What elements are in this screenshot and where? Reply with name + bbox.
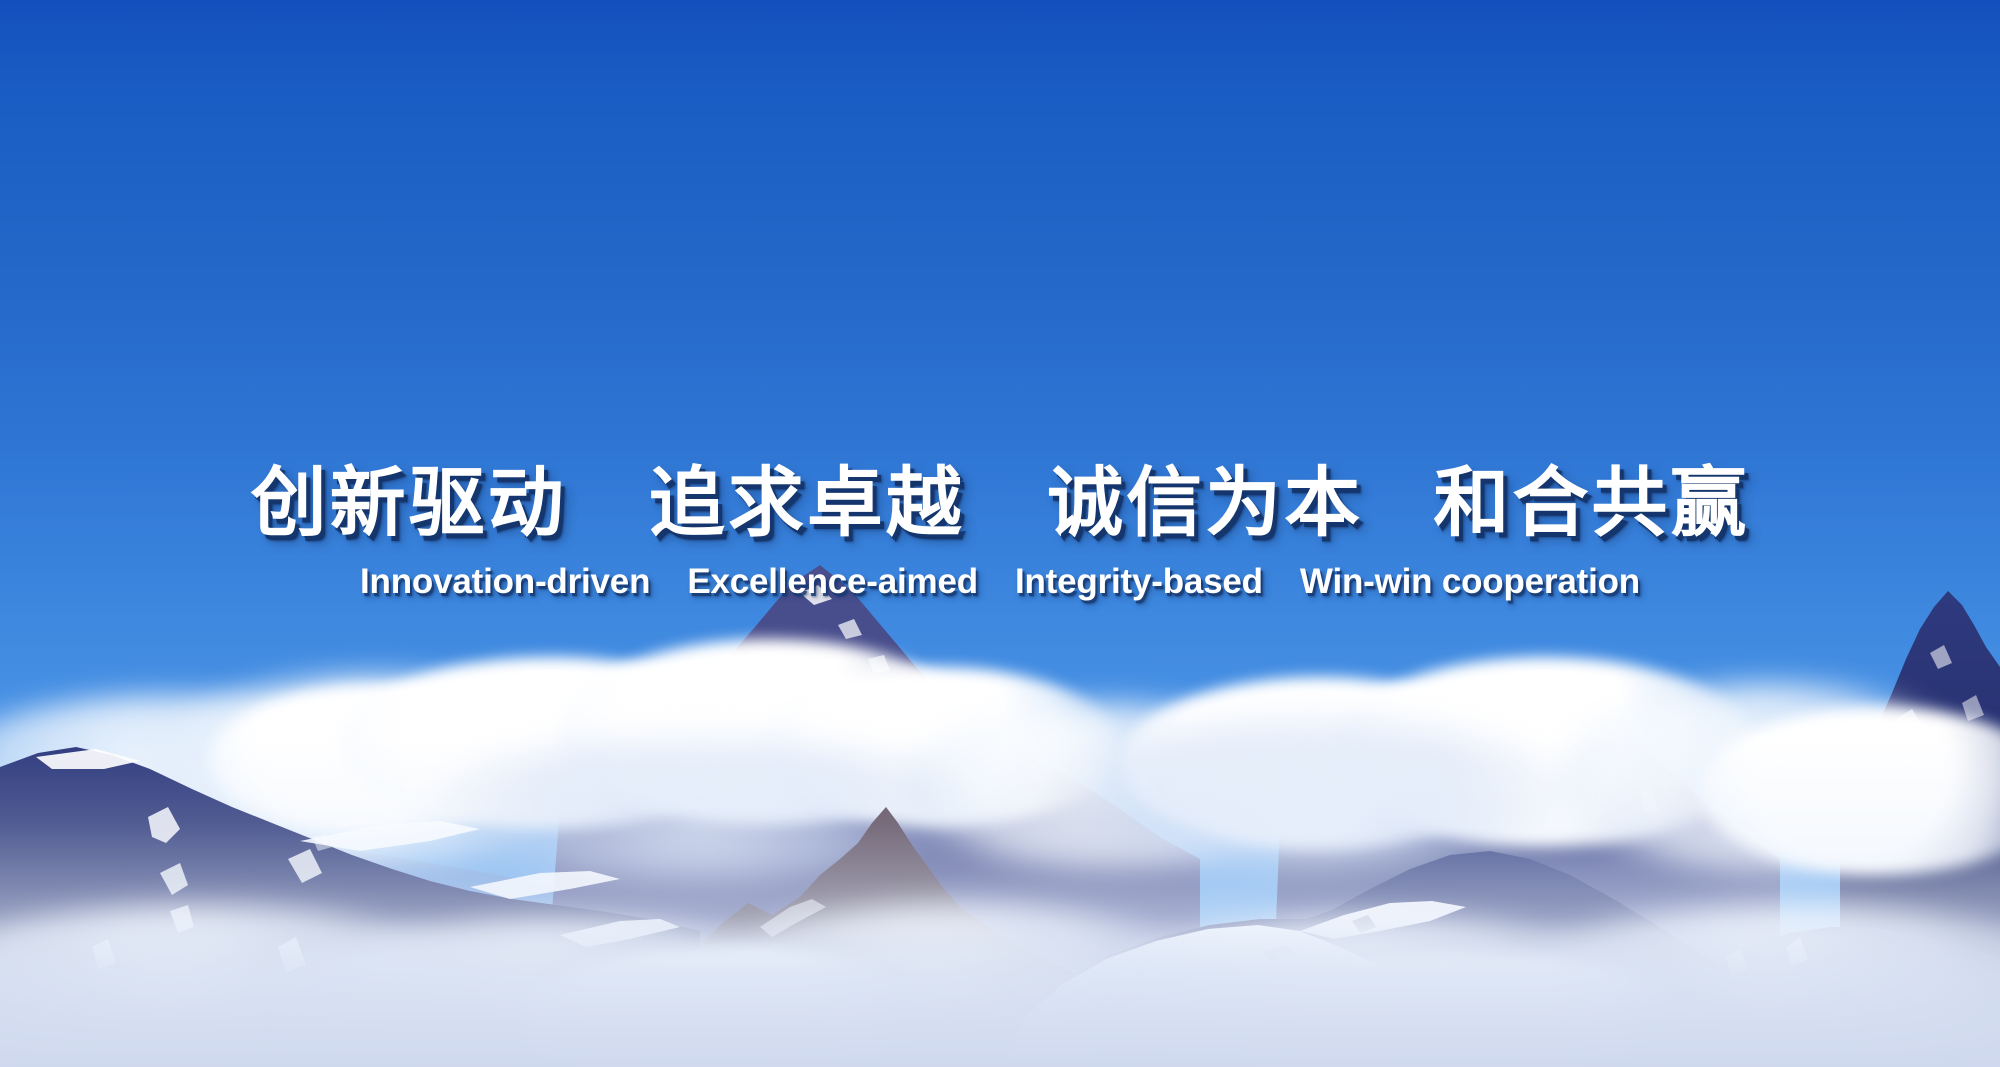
mountain-cloud-scene xyxy=(0,507,2000,1067)
foreground-right-slope xyxy=(0,507,2000,1067)
banner-stage: 创新驱动 追求卓越 诚信为本 和合共赢 Innovation-driven Ex… xyxy=(0,0,2000,1067)
